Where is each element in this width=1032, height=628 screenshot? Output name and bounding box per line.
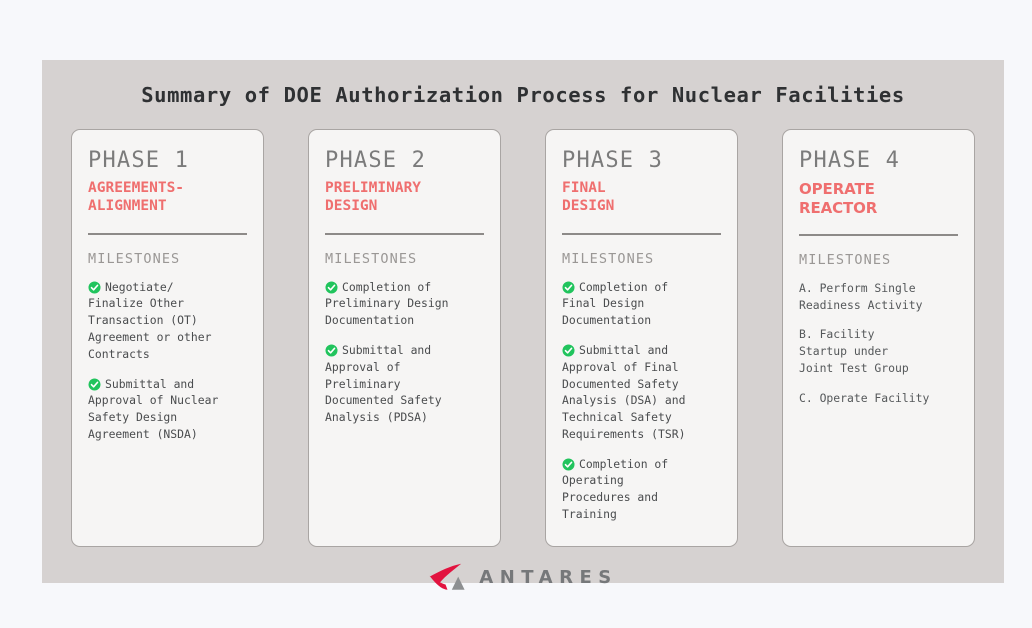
milestone-text: Submittal and Approval of Preliminary Do… bbox=[325, 343, 442, 424]
milestones-heading: MILESTONES bbox=[799, 252, 958, 268]
milestones-heading: MILESTONES bbox=[88, 251, 247, 267]
antares-wordmark: ANTARES bbox=[479, 567, 617, 588]
milestone-text: A. Perform Single Readiness Activity bbox=[799, 281, 922, 312]
card-divider bbox=[88, 233, 247, 235]
milestone-text: Completion of Operating Procedures and T… bbox=[562, 457, 668, 521]
milestone-item: Completion of Preliminary Design Documen… bbox=[325, 279, 484, 329]
milestone-list: Completion of Preliminary Design Documen… bbox=[325, 279, 484, 426]
milestone-item: Submittal and Approval of Final Document… bbox=[562, 342, 721, 443]
milestone-item: Completion of Operating Procedures and T… bbox=[562, 456, 721, 523]
milestone-text: Negotiate/ Finalize Other Transaction (O… bbox=[88, 280, 211, 361]
phase-card-row: PHASE 1AGREEMENTS- ALIGNMENTMILESTONESNe… bbox=[71, 129, 975, 547]
milestones-heading: MILESTONES bbox=[325, 251, 484, 267]
milestone-item: Submittal and Approval of Nuclear Safety… bbox=[88, 376, 247, 443]
milestone-text: Submittal and Approval of Nuclear Safety… bbox=[88, 377, 218, 441]
phase-card-2[interactable]: PHASE 2PRELIMINARY DESIGNMILESTONESCompl… bbox=[308, 129, 501, 547]
antares-logo: ANTARES bbox=[428, 563, 617, 591]
milestone-text: B. Facility Startup under Joint Test Gro… bbox=[799, 327, 909, 375]
milestone-text: Completion of Final Design Documentation bbox=[562, 280, 668, 328]
milestone-item: A. Perform Single Readiness Activity bbox=[799, 280, 958, 314]
phase-card-4[interactable]: PHASE 4OPERATE REACTORMILESTONESA. Perfo… bbox=[782, 129, 975, 547]
card-divider bbox=[562, 233, 721, 235]
page-title: Summary of DOE Authorization Process for… bbox=[141, 83, 905, 107]
screenshot-root: Summary of DOE Authorization Process for… bbox=[0, 0, 1032, 628]
phase-label: PHASE 4 bbox=[799, 148, 958, 173]
milestone-text: C. Operate Facility bbox=[799, 391, 929, 405]
antares-swoosh-icon bbox=[428, 563, 470, 591]
phase-subtitle: OPERATE REACTOR bbox=[799, 180, 958, 217]
milestone-list: A. Perform Single Readiness ActivityB. F… bbox=[799, 280, 958, 407]
milestone-text: Submittal and Approval of Final Document… bbox=[562, 343, 685, 441]
phase-subtitle: AGREEMENTS- ALIGNMENT bbox=[88, 180, 247, 215]
phase-card-3[interactable]: PHASE 3FINAL DESIGNMILESTONESCompletion … bbox=[545, 129, 738, 547]
milestone-list: Completion of Final Design Documentation… bbox=[562, 279, 721, 523]
milestones-heading: MILESTONES bbox=[562, 251, 721, 267]
phase-subtitle: PRELIMINARY DESIGN bbox=[325, 180, 484, 215]
phase-label: PHASE 3 bbox=[562, 148, 721, 173]
phase-label: PHASE 1 bbox=[88, 148, 247, 173]
milestone-item: Completion of Final Design Documentation bbox=[562, 279, 721, 329]
phase-card-1[interactable]: PHASE 1AGREEMENTS- ALIGNMENTMILESTONESNe… bbox=[71, 129, 264, 547]
milestone-item: B. Facility Startup under Joint Test Gro… bbox=[799, 326, 958, 376]
milestone-item: Negotiate/ Finalize Other Transaction (O… bbox=[88, 279, 247, 363]
card-divider bbox=[799, 234, 958, 236]
phase-subtitle: FINAL DESIGN bbox=[562, 180, 721, 215]
milestone-item: Submittal and Approval of Preliminary Do… bbox=[325, 342, 484, 426]
milestone-list: Negotiate/ Finalize Other Transaction (O… bbox=[88, 279, 247, 443]
milestone-text: Completion of Preliminary Design Documen… bbox=[325, 280, 448, 328]
milestone-item: C. Operate Facility bbox=[799, 390, 958, 407]
diagram-panel: Summary of DOE Authorization Process for… bbox=[42, 60, 1004, 583]
phase-label: PHASE 2 bbox=[325, 148, 484, 173]
card-divider bbox=[325, 233, 484, 235]
